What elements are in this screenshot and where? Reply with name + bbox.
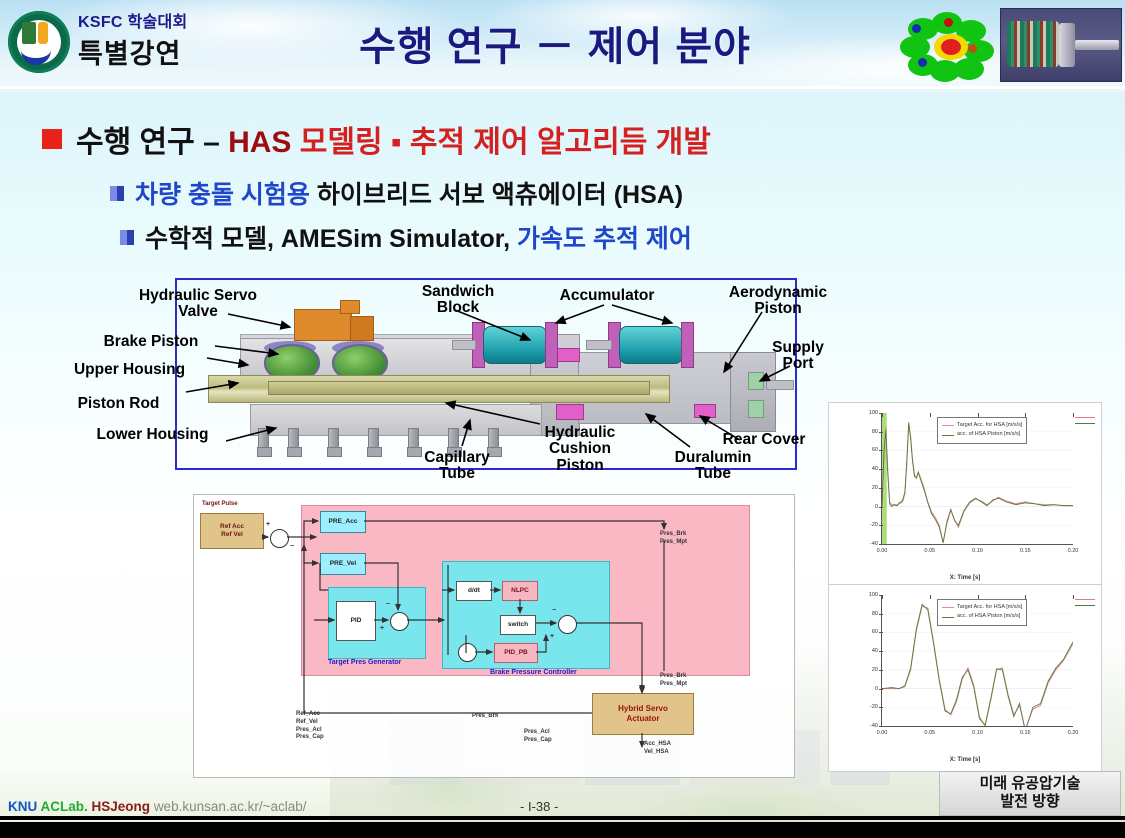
- accumulator-1-flange-right: [545, 322, 558, 368]
- hsa-servo-valve-top: [340, 300, 360, 314]
- bullet-l2-part-a: 차량 충돌 시험용: [135, 181, 310, 209]
- footer-url[interactable]: web.kunsan.ac.kr/~aclab/: [154, 799, 307, 814]
- chart1-legend-0: Target Acc. for HSA [m/s/s]: [957, 421, 1022, 430]
- hsa-bolt-5: [408, 428, 419, 452]
- hsa-bolt-1: [258, 428, 269, 452]
- hsa-rear-shaft: [766, 380, 794, 390]
- chart1-ytick-6: -20: [870, 522, 878, 528]
- chart-acceleration-top: 100 80 60 40 20 0 -20 -40 0.00 0.05 0.10…: [828, 402, 1102, 590]
- label-rear-cover: Rear Cover: [706, 432, 822, 448]
- chart2-xtick-0: 0.00: [877, 730, 888, 736]
- chart1-xlabel: X: Time [s]: [829, 575, 1101, 581]
- chart-acceleration-bottom: 100 80 60 40 20 0 -20 -40 0.00 0.05 0.10…: [828, 584, 1102, 772]
- chart2-xlabel: X: Time [s]: [829, 757, 1101, 763]
- chart2-side-marks: [1075, 599, 1097, 611]
- footer-dot: .: [84, 799, 88, 814]
- footer-aclab: ACLab: [41, 799, 85, 814]
- chart1-ytick-7: -40: [870, 541, 878, 547]
- hsa-bolt-2: [288, 428, 299, 452]
- chart2-ytick-1: 80: [872, 611, 878, 617]
- footer-page-number: - I-38 -: [520, 799, 558, 814]
- hsa-bolt-3: [328, 428, 339, 452]
- chart2-ytick-4: 20: [872, 667, 878, 673]
- accumulator-1: [483, 326, 547, 364]
- hsa-servo-valve-side: [350, 316, 374, 341]
- label-accumulator: Accumulator: [540, 288, 674, 304]
- chart2-ytick-7: -40: [870, 723, 878, 729]
- chart1-xtick-0: 0.00: [877, 548, 888, 554]
- bullet-square-blue-icon: [110, 186, 124, 201]
- chart1-legend: Target Acc. for HSA [m/s/s] acc. of HSA …: [937, 417, 1027, 444]
- bullet-l1-part-a: 수행 연구 –: [76, 126, 228, 159]
- footer-theme-line1: 미래 유공압기술: [940, 775, 1120, 794]
- header-org-line: KSFC 학술대회: [78, 8, 188, 32]
- chart2-xtick-3: 0.15: [1020, 730, 1031, 736]
- chart1-xtick-3: 0.15: [1020, 548, 1031, 554]
- flower-graphic-icon: [898, 10, 1000, 80]
- hsa-seal-pink-3: [694, 404, 716, 418]
- bullet-level2-a: 차량 충돌 시험용 하이브리드 서보 액츄에이터 (HSA): [110, 175, 683, 211]
- chart1-ytick-5: 0: [875, 504, 878, 510]
- accumulator-2-pipe: [586, 340, 612, 350]
- chart2-xtick-1: 0.05: [924, 730, 935, 736]
- bullet-l3-part-b: 가속도 추적 제어: [517, 225, 692, 253]
- label-upper-housing: Upper Housing: [52, 362, 207, 378]
- label-aerodynamic-piston: AerodynamicPiston: [714, 285, 842, 318]
- label-capillary-tube: CapillaryTube: [408, 450, 506, 483]
- chart2-ytick-5: 0: [875, 686, 878, 692]
- footer-credits: KNU ACLab. HSJeong web.kunsan.ac.kr/~acl…: [8, 799, 307, 814]
- label-lower-housing: Lower Housing: [80, 427, 225, 443]
- bottom-black-bar: [0, 822, 1125, 838]
- bullet-l1-has: HAS: [228, 126, 291, 159]
- bullet-square-blue-icon-2: [120, 230, 134, 245]
- hsa-bolt-4: [368, 428, 379, 452]
- chart2-xtick-4: 0.20: [1068, 730, 1079, 736]
- chart1-xtick-4: 0.20: [1068, 548, 1079, 554]
- motor-photo-icon: [1000, 8, 1122, 82]
- bullet-square-red-icon: [42, 129, 62, 149]
- chart2-xtick-2: 0.10: [972, 730, 983, 736]
- hsa-supply-port-seal-2: [748, 400, 764, 418]
- hsa-seal-pink-2: [556, 404, 584, 420]
- chart1-xtick-2: 0.10: [972, 548, 983, 554]
- accumulator-1-pipe: [452, 340, 476, 350]
- chart1-ytick-3: 40: [872, 466, 878, 472]
- chart1-ytick-0: 100: [869, 410, 878, 416]
- chart2-ytick-3: 40: [872, 648, 878, 654]
- footer-hsjeong: HSJeong: [92, 799, 151, 814]
- chart2-legend-1: acc. of HSA Piston [m/s/s]: [957, 612, 1020, 621]
- chart2-ytick-2: 60: [872, 629, 878, 635]
- chart1-legend-1: acc. of HSA Piston [m/s/s]: [957, 430, 1020, 439]
- label-hydraulic-servo-valve: Hydraulic ServoValve: [118, 288, 278, 321]
- accumulator-2-flange-right: [681, 322, 694, 368]
- control-block-diagram: Ref Acc Ref Vel Target Pulse + − PRE_Acc…: [193, 494, 795, 778]
- chart2-ytick-0: 100: [869, 592, 878, 598]
- chart2-legend-0: Target Acc. for HSA [m/s/s]: [957, 603, 1022, 612]
- bullet-level2-b: 수학적 모델, AMESim Simulator, 가속도 추적 제어: [120, 219, 692, 255]
- bullet-l2-part-b: 하이브리드 서보 액츄에이터 (HSA): [310, 181, 683, 209]
- label-sandwich-block: SandwichBlock: [408, 284, 508, 317]
- hsa-supply-port-seal-1: [748, 372, 764, 390]
- bullet-l3-part-a: 수학적 모델, AMESim Simulator,: [145, 225, 517, 253]
- chart1-ytick-2: 60: [872, 447, 878, 453]
- label-duralumin-tube: DuraluminTube: [658, 450, 768, 483]
- footer-theme-badge: 미래 유공압기술 발전 방향: [939, 771, 1121, 817]
- footer-theme-line2: 발전 방향: [940, 793, 1120, 812]
- header-divider: [0, 86, 1125, 89]
- slide-root: KSFC 학술대회 특별강연 수행 연구 － 제어 분야 수행 연구 – HAS…: [0, 0, 1125, 838]
- bd-connection-lines: [194, 495, 794, 777]
- footer-rule: [0, 816, 1125, 820]
- accumulator-2: [619, 326, 683, 364]
- header-org-sub: 특별강연: [78, 32, 181, 71]
- footer-knu: KNU: [8, 799, 37, 814]
- chart1-xtick-1: 0.05: [924, 548, 935, 554]
- label-hydraulic-cushion-piston: HydraulicCushionPiston: [530, 425, 630, 474]
- label-piston-rod: Piston Rod: [56, 396, 181, 412]
- chart1-ytick-4: 20: [872, 485, 878, 491]
- chart2-legend: Target Acc. for HSA [m/s/s] acc. of HSA …: [937, 599, 1027, 626]
- chart1-ytick-1: 80: [872, 429, 878, 435]
- label-supply-port: SupplyPort: [760, 340, 836, 373]
- page-title: 수행 연구 － 제어 분야: [300, 14, 810, 72]
- label-brake-piston: Brake Piston: [86, 334, 216, 350]
- chart2-ytick-6: -20: [870, 704, 878, 710]
- bullet-l1-part-c: 모델링 ▪ 추적 제어 알고리듬 개발: [291, 126, 710, 159]
- ksfc-emblem-icon: [5, 6, 73, 78]
- hsa-piston-rod-bore: [268, 381, 650, 395]
- hsa-seal-pink-1: [556, 348, 580, 362]
- bullet-level1: 수행 연구 – HAS 모델링 ▪ 추적 제어 알고리듬 개발: [42, 117, 711, 161]
- chart1-side-marks: [1075, 417, 1097, 429]
